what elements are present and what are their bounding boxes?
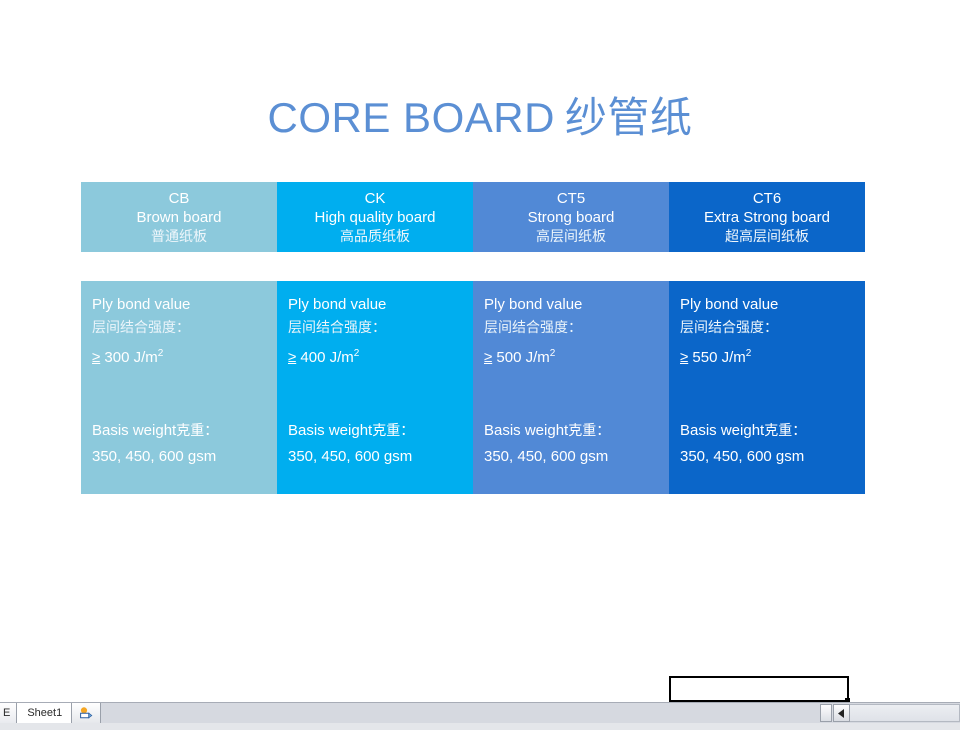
ply-bond-label-english: Ply bond value [680,294,865,316]
greater-equal-symbol: ≥ [92,349,100,366]
basis-weight-block: Basis weight克重： 350, 450, 600 gsm [92,417,218,470]
greater-equal-symbol: ≥ [484,349,492,366]
table-row-separator [81,252,865,281]
page-title-english: CORE BOARD [268,94,555,141]
ply-bond-unit: J/m [330,349,354,366]
greater-equal-symbol: ≥ [288,349,296,366]
ply-bond-unit: J/m [134,349,158,366]
table-header-cell-ck: CK High quality board 高品质纸板 [277,182,473,252]
grade-name-chinese: 高品质纸板 [340,227,410,246]
grade-name-english: Strong board [528,208,615,227]
ply-bond-label-english: Ply bond value [92,294,277,316]
sheet-tab-e[interactable]: E [0,703,17,723]
basis-weight-block: Basis weight克重： 350, 450, 600 gsm [680,417,806,470]
slide-canvas: CORE BOARD纱管纸 CB Brown board 普通纸板 CK Hig… [0,0,960,702]
basis-weight-label-chinese: 克重： [372,422,414,438]
ply-bond-label-english: Ply bond value [484,294,669,316]
grade-name-chinese: 普通纸板 [151,227,207,246]
basis-weight-label-english: Basis weight [484,422,568,439]
basis-weight-label-chinese: 克重： [764,422,806,438]
grade-code: CK [365,189,386,208]
basis-weight-label: Basis weight克重： [680,417,806,444]
basis-weight-values: 350, 450, 600 gsm [288,444,414,470]
ply-bond-label-chinese: 层间结合强度： [288,316,473,338]
table-body-cell-ck: Ply bond value 层间结合强度： ≥ 400 J/m2 Basis … [277,281,473,494]
basis-weight-block: Basis weight克重： 350, 450, 600 gsm [288,417,414,470]
core-board-comparison-table: CB Brown board 普通纸板 CK High quality boar… [81,182,865,494]
sheet-tab-label: E [3,707,10,719]
horizontal-split-handle[interactable] [820,704,832,722]
horizontal-scrollbar[interactable] [820,703,960,723]
ply-bond-number: 300 [104,349,129,366]
scroll-track[interactable] [850,704,960,722]
table-header-cell-cb: CB Brown board 普通纸板 [81,182,277,252]
ply-bond-label-chinese: 层间结合强度： [680,316,865,338]
ply-bond-value: ≥ 400 J/m2 [288,347,473,369]
basis-weight-label-english: Basis weight [92,422,176,439]
insert-worksheet-icon[interactable] [72,703,101,723]
ply-bond-number: 400 [300,349,325,366]
ply-bond-number: 500 [496,349,521,366]
ply-bond-label-english: Ply bond value [288,294,473,316]
grade-name-english: Extra Strong board [704,208,830,227]
basis-weight-label: Basis weight克重： [484,417,610,444]
page-title: CORE BOARD纱管纸 [0,92,960,144]
basis-weight-label-english: Basis weight [288,422,372,439]
ply-bond-number: 550 [692,349,717,366]
page-title-chinese: 纱管纸 [565,94,693,141]
grade-code: CB [169,189,190,208]
basis-weight-block: Basis weight克重： 350, 450, 600 gsm [484,417,610,470]
selected-cell-range[interactable] [669,676,849,702]
sheet-tab-sheet1[interactable]: Sheet1 [17,703,72,723]
ply-bond-value: ≥ 300 J/m2 [92,347,277,369]
basis-weight-values: 350, 450, 600 gsm [484,444,610,470]
ply-bond-unit-exponent: 2 [354,348,360,359]
grade-name-english: Brown board [136,208,221,227]
basis-weight-label-english: Basis weight [680,422,764,439]
basis-weight-label: Basis weight克重： [288,417,414,444]
ply-bond-unit-exponent: 2 [158,348,164,359]
table-header-row: CB Brown board 普通纸板 CK High quality boar… [81,182,865,252]
basis-weight-values: 350, 450, 600 gsm [92,444,218,470]
table-body-cell-cb: Ply bond value 层间结合强度： ≥ 300 J/m2 Basis … [81,281,277,494]
grade-name-chinese: 超高层间纸板 [725,227,809,246]
sheet-tab-bar: E Sheet1 [0,702,960,730]
sheet-tabs: E Sheet1 [0,703,101,723]
table-header-cell-ct5: CT5 Strong board 高层间纸板 [473,182,669,252]
greater-equal-symbol: ≥ [680,349,688,366]
sheet-tab-bar-filler [0,723,960,730]
ply-bond-unit-exponent: 2 [746,348,752,359]
ply-bond-unit: J/m [722,349,746,366]
basis-weight-label-chinese: 克重： [568,422,610,438]
ply-bond-label-chinese: 层间结合强度： [484,316,669,338]
basis-weight-values: 350, 450, 600 gsm [680,444,806,470]
ply-bond-unit: J/m [526,349,550,366]
ply-bond-unit-exponent: 2 [550,348,556,359]
grade-code: CT6 [753,189,781,208]
table-body-cell-ct5: Ply bond value 层间结合强度： ≥ 500 J/m2 Basis … [473,281,669,494]
grade-name-chinese: 高层间纸板 [536,227,606,246]
ply-bond-label-chinese: 层间结合强度： [92,316,277,338]
ply-bond-value: ≥ 500 J/m2 [484,347,669,369]
table-header-cell-ct6: CT6 Extra Strong board 超高层间纸板 [669,182,865,252]
table-body-cell-ct6: Ply bond value 层间结合强度： ≥ 550 J/m2 Basis … [669,281,865,494]
basis-weight-label-chinese: 克重： [176,422,218,438]
grade-code: CT5 [557,189,585,208]
ply-bond-value: ≥ 550 J/m2 [680,347,865,369]
scroll-left-arrow-icon[interactable] [833,704,850,722]
table-body-row: Ply bond value 层间结合强度： ≥ 300 J/m2 Basis … [81,281,865,494]
sheet-tab-label: Sheet1 [27,707,62,719]
basis-weight-label: Basis weight克重： [92,417,218,444]
grade-name-english: High quality board [315,208,436,227]
